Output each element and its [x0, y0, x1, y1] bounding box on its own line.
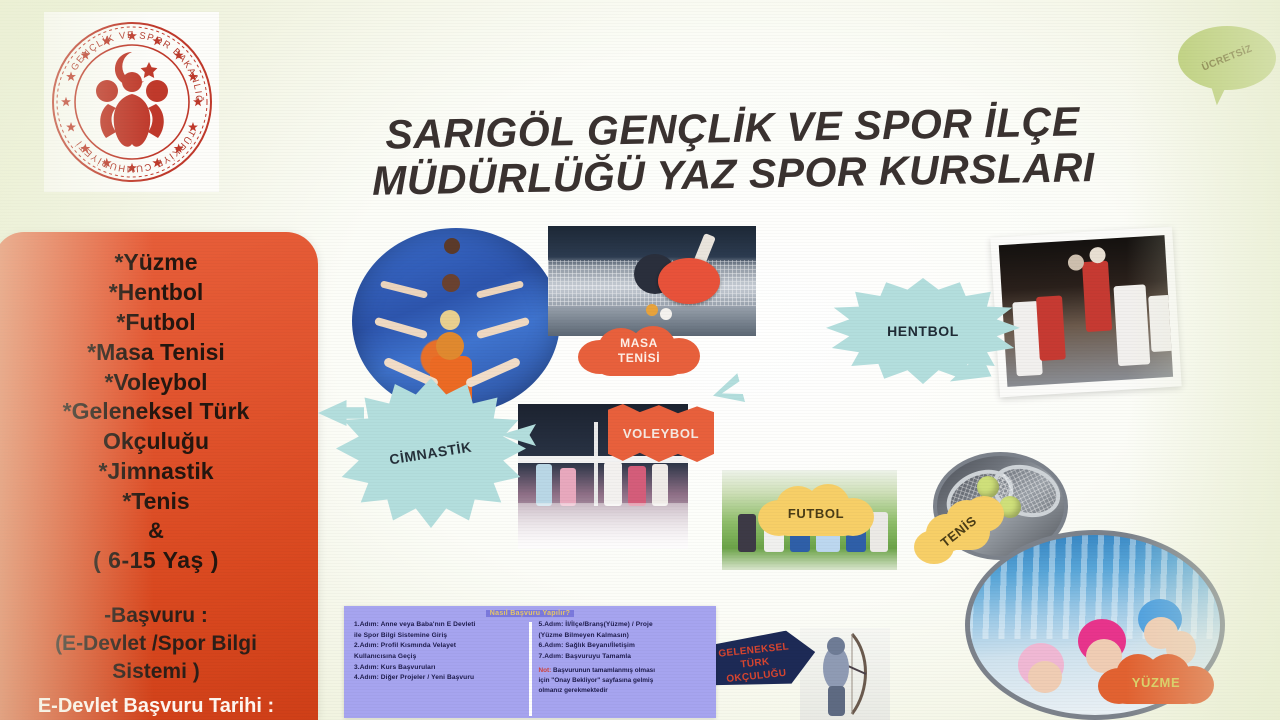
callout-label-line-1: GELENEKSEL: [718, 641, 790, 659]
step-line: 7.Adım: Başvuruyu Tamamla: [539, 652, 707, 663]
ball-white-icon: [660, 308, 672, 320]
sport-item: *Hentbol: [8, 278, 304, 308]
step-line: 4.Adım: Diğer Projeler / Yeni Başvuru: [354, 673, 522, 684]
callout-label: YÜZME: [1132, 675, 1181, 690]
callout-label-line-3: OKÇULUĞU: [726, 667, 787, 684]
column-divider: [529, 622, 532, 716]
gymnastics-photo: [352, 228, 560, 414]
handball-photo: [990, 227, 1181, 398]
sport-item: *Jimnastik: [8, 457, 304, 487]
callout-label: GELENEKSEL TÜRK OKÇULUĞU: [718, 640, 792, 686]
ministry-seal-icon: GENÇLİK VE SPOR BAKANLIĞI TÜRKİYE CUMHUR…: [44, 12, 219, 192]
callout-label-line-1: MASA: [620, 336, 658, 350]
steps-left-column: 1.Adım: Anne veya Baba'nın E Devleti ile…: [350, 620, 526, 718]
callout-label-line-2: TÜRK: [740, 656, 770, 670]
step-line: (Yüzme Bilmeyen Kalmasın): [539, 631, 707, 642]
callout-tenis: TENİS: [912, 496, 1006, 566]
step-line: 5.Adım: İl/İlçe/Branş(Yüzme) / Proje: [539, 620, 707, 631]
tennis-ball-icon: [977, 476, 999, 498]
archery-photo: [800, 628, 890, 720]
application-steps-box: Nasıl Başvuru Yapılır? 1.Adım: Anne veya…: [344, 606, 716, 718]
apply-label: -Başvuru :: [8, 602, 304, 630]
paddle-red-icon: [658, 258, 720, 304]
callout-label: MASA TENİSİ: [618, 336, 660, 366]
callout-yuzme: YÜZME: [1098, 654, 1214, 710]
callout-label: VOLEYBOL: [623, 426, 699, 441]
note-line-2: için "Onay Bekliyor" sayfasına gelmiş: [539, 677, 654, 684]
table-tennis-photo: [548, 226, 756, 336]
step-line: 2.Adım: Profil Kısmında Velayet: [354, 641, 522, 652]
note-line-1: Başvurunun tamamlanmış olması: [551, 667, 655, 674]
application-dates: E-Devlet Başvuru Tarihi : 16 – 30 Hazira…: [8, 693, 304, 720]
free-badge-label: ÜCRETSİZ: [1170, 10, 1280, 106]
free-badge: ÜCRETSİZ: [1178, 26, 1276, 90]
sports-list: *Yüzme *Hentbol *Futbol *Masa Tenisi *Vo…: [8, 248, 304, 576]
steps-right-column: 5.Adım: İl/İlçe/Branş(Yüzme) / Proje (Yü…: [535, 620, 711, 718]
ampersand: &: [8, 517, 304, 546]
sports-list-panel: *Yüzme *Hentbol *Futbol *Masa Tenisi *Vo…: [0, 232, 318, 720]
floor-reflection: [518, 503, 688, 549]
sport-item: *Geleneksel Türk: [8, 397, 304, 427]
callout-label: CİMNASTİK: [389, 439, 474, 468]
apply-channel-line-1: (E-Devlet /Spor Bilgi: [8, 630, 304, 658]
callout-futbol: FUTBOL: [758, 484, 874, 542]
callout-label: FUTBOL: [788, 506, 844, 521]
svg-text:GENÇLİK VE SPOR BAKANLIĞI: GENÇLİK VE SPOR BAKANLIĞI: [46, 16, 204, 104]
pointer-arrow-icon: [697, 373, 745, 413]
callout-voleybol: VOLEYBOL: [608, 404, 714, 462]
callout-label-line-2: TENİSİ: [618, 351, 660, 365]
note-keyword: Not:: [539, 667, 552, 674]
step-line: ile Spor Bilgi Sistemine Giriş: [354, 631, 522, 642]
steps-header: Nasıl Başvuru Yapılır?: [486, 610, 574, 617]
callout-label: HENTBOL: [887, 323, 959, 339]
apply-channel-line-2: Sistemi ): [8, 658, 304, 686]
step-line: 6.Adım: Sağlık Beyanı/İletişim: [539, 641, 707, 652]
sport-item: *Tenis: [8, 487, 304, 517]
note-line-3: olmanız gerekmektedir: [539, 687, 608, 694]
sport-item: Okçuluğu: [8, 427, 304, 457]
ball-orange-icon: [646, 304, 658, 316]
step-line: 3.Adım: Kurs Başvuruları: [354, 663, 522, 674]
poster-canvas: GENÇLİK VE SPOR BAKANLIĞI TÜRKİYE CUMHUR…: [0, 0, 1280, 720]
callout-masa-tenisi: MASA TENİSİ: [578, 326, 700, 376]
date-label: E-Devlet Başvuru Tarihi :: [8, 693, 304, 719]
sport-item: *Futbol: [8, 308, 304, 338]
step-line: 1.Adım: Anne veya Baba'nın E Devleti: [354, 620, 522, 631]
net-pole-icon: [594, 422, 598, 506]
sport-item: *Voleybol: [8, 368, 304, 398]
steps-note: Not: Başvurunun tamamlanmış olması için …: [539, 666, 707, 697]
step-line: Kullanıcısına Geçiş: [354, 652, 522, 663]
sport-item: *Yüzme: [8, 248, 304, 278]
callout-hentbol: HENTBOL: [826, 278, 1020, 384]
sport-item: *Masa Tenisi: [8, 338, 304, 368]
poster-title: SARIGÖL GENÇLİK VE SPOR İLÇE MÜDÜRLÜĞÜ Y…: [282, 97, 1184, 206]
age-range: ( 6-15 Yaş ): [8, 546, 304, 576]
application-info: -Başvuru : (E-Devlet /Spor Bilgi Sistemi…: [8, 602, 304, 687]
